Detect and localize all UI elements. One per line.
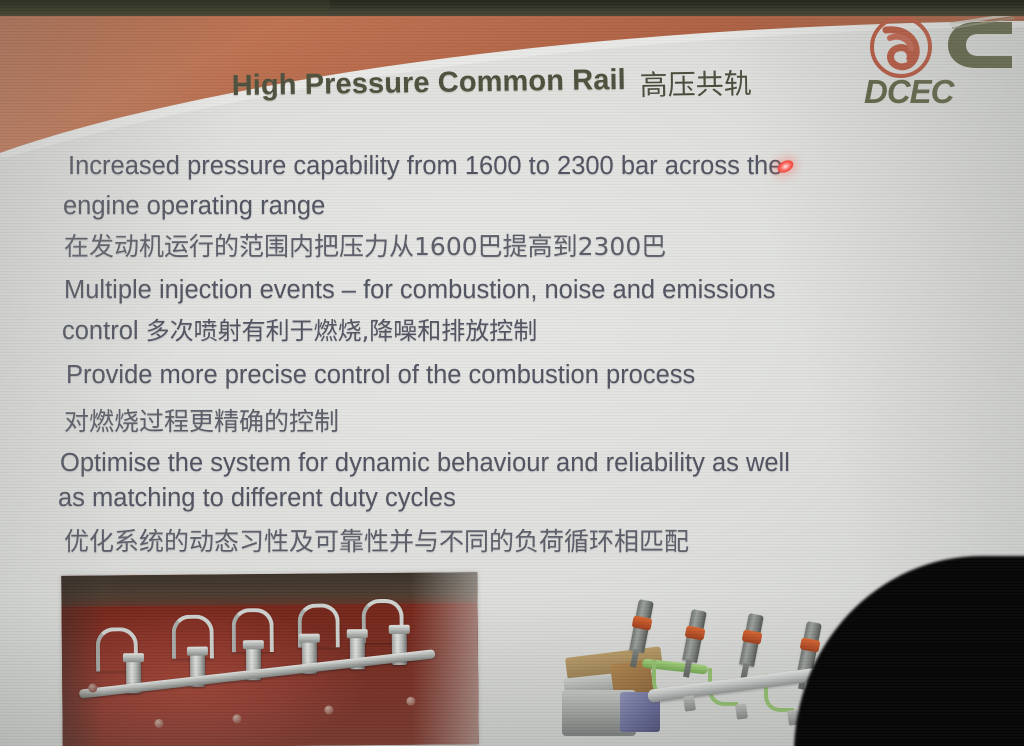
- logo-group: DCEC: [862, 14, 1022, 114]
- bolt: [232, 714, 241, 723]
- injector: [629, 599, 654, 653]
- dcec-text: DCEC: [864, 73, 956, 110]
- injector-band: [685, 625, 706, 640]
- body-line-5-english: control: [62, 317, 139, 345]
- projected-slide: High Pressure Common Rail 高压共轨 DCEC Incr…: [0, 0, 1024, 746]
- injector-band: [632, 615, 653, 630]
- engine-common-rail-photo: [61, 572, 478, 746]
- injector: [682, 609, 707, 663]
- body-line-9: as matching to different duty cycles: [58, 484, 456, 513]
- engine-photo-left-shade: [61, 575, 104, 746]
- body-line-7-chinese: 对燃烧过程更精确的控制: [64, 402, 339, 438]
- body-line-2: engine operating range: [63, 192, 325, 221]
- body-line-5-chinese: 多次喷射有利于燃烧,降噪和排放控制: [146, 317, 538, 345]
- slide-title-english: High Pressure Common Rail: [231, 64, 626, 103]
- bolt: [324, 705, 333, 714]
- body-line-8: Optimise the system for dynamic behaviou…: [60, 449, 790, 478]
- slide-title: High Pressure Common Rail 高压共轨: [232, 64, 752, 104]
- body-line-3-chinese: 在发动机运行的范围内把压力从1600巴提高到2300巴: [64, 227, 666, 263]
- bolt: [155, 719, 164, 728]
- injector: [739, 613, 764, 667]
- dcec-wordmark: DCEC: [862, 72, 1014, 112]
- rail-port: [683, 695, 696, 711]
- rail-port: [735, 703, 748, 719]
- body-line-4: Multiple injection events – for combusti…: [64, 276, 776, 305]
- injector-band: [800, 637, 821, 652]
- cummins-c-logo: [942, 12, 1020, 78]
- engine-photo-right-shade: [411, 572, 479, 745]
- body-line-6: Provide more precise control of the comb…: [66, 361, 695, 390]
- wall-above-screen-right: [330, 0, 1024, 9]
- body-line-10-chinese: 优化系统的动态习性及可靠性并与不同的负荷循环相匹配: [64, 522, 689, 558]
- injector-band: [742, 629, 763, 644]
- body-line-5: control 多次喷射有利于燃烧,降噪和排放控制: [62, 311, 537, 346]
- body-line-1: Increased pressure capability from 1600 …: [68, 152, 782, 181]
- slide-title-chinese: 高压共轨: [639, 62, 752, 104]
